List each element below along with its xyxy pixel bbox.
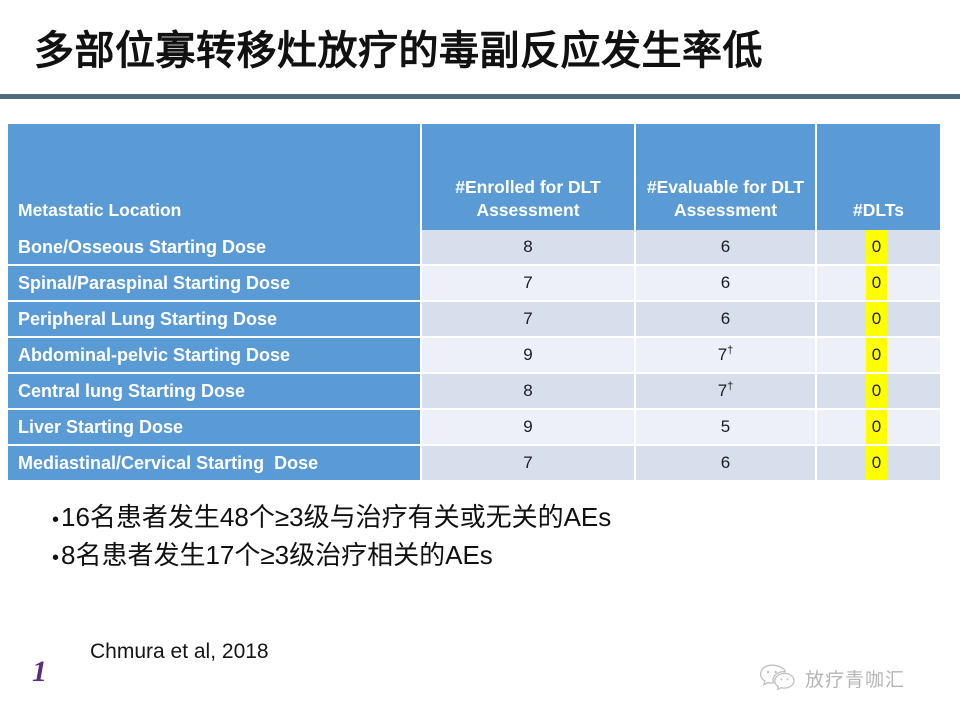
table-row: Bone/Osseous Starting Dose860: [8, 230, 940, 265]
cell-evaluable: 6: [635, 301, 816, 337]
cell-enrolled: 7: [421, 301, 635, 337]
cell-location: Abdominal-pelvic Starting Dose: [8, 337, 421, 373]
watermark: 放疗青咖汇: [758, 662, 905, 695]
cell-location: Mediastinal/Cervical Starting Dose: [8, 445, 421, 480]
cell-dlts-value: 0: [866, 302, 887, 336]
slide-canvas: 多部位寡转移灶放疗的毒副反应发生率低 Metastatic Location #…: [0, 0, 960, 720]
list-item: • 16名患者发生48个≥3级与治疗有关或无关的AEs: [52, 500, 912, 538]
table-row: Mediastinal/Cervical Starting Dose760: [8, 445, 940, 480]
cell-dlts: 0: [816, 230, 940, 265]
page-title: 多部位寡转移灶放疗的毒副反应发生率低: [34, 22, 924, 82]
bullet-text: 16名患者发生48个≥3级与治疗有关或无关的AEs: [61, 500, 611, 535]
cell-evaluable-value: 6: [721, 273, 730, 292]
cell-location: Bone/Osseous Starting Dose: [8, 230, 421, 265]
list-item: • 8名患者发生17个≥3级治疗相关的AEs: [52, 538, 912, 576]
cell-evaluable-value: 6: [721, 237, 730, 256]
page-number: 1: [32, 655, 47, 689]
cell-enrolled: 7: [421, 445, 635, 480]
wechat-bubble-icon: [758, 662, 798, 695]
cell-dlts: 0: [816, 265, 940, 301]
cell-enrolled: 8: [421, 230, 635, 265]
cell-evaluable-value: 6: [721, 453, 730, 472]
column-header-enrolled: #Enrolled for DLT Assessment: [421, 124, 635, 230]
table-body: Bone/Osseous Starting Dose860Spinal/Para…: [8, 230, 940, 480]
cell-enrolled: 7: [421, 265, 635, 301]
cell-dlts-value: 0: [866, 266, 887, 300]
table-row: Spinal/Paraspinal Starting Dose760: [8, 265, 940, 301]
column-header-location: Metastatic Location: [8, 124, 421, 230]
cell-evaluable: 5: [635, 409, 816, 445]
citation-text: Chmura et al, 2018: [90, 640, 269, 664]
bullet-text: 8名患者发生17个≥3级治疗相关的AEs: [61, 538, 493, 573]
cell-dlts: 0: [816, 301, 940, 337]
cell-evaluable-value: 6: [721, 309, 730, 328]
table-row: Liver Starting Dose950: [8, 409, 940, 445]
watermark-text: 放疗青咖汇: [805, 665, 905, 692]
title-divider: [0, 94, 960, 99]
results-table-container: Metastatic Location #Enrolled for DLT As…: [8, 124, 940, 480]
cell-location: Spinal/Paraspinal Starting Dose: [8, 265, 421, 301]
column-header-dlts: #DLTs: [816, 124, 940, 230]
cell-location: Central lung Starting Dose: [8, 373, 421, 409]
cell-evaluable: 7†: [635, 373, 816, 409]
cell-dlts-value: 0: [866, 410, 887, 444]
dlt-results-table: Metastatic Location #Enrolled for DLT As…: [8, 124, 940, 480]
cell-evaluable: 6: [635, 265, 816, 301]
cell-dlts: 0: [816, 445, 940, 480]
cell-evaluable-value: 5: [721, 417, 730, 436]
cell-dlts-value: 0: [866, 374, 887, 408]
table-row: Abdominal-pelvic Starting Dose97†0: [8, 337, 940, 373]
cell-dlts: 0: [816, 409, 940, 445]
bullet-marker-icon: •: [52, 541, 59, 576]
cell-dlts-value: 0: [866, 446, 887, 480]
cell-dlts: 0: [816, 337, 940, 373]
bullet-marker-icon: •: [52, 503, 59, 538]
cell-evaluable: 7†: [635, 337, 816, 373]
dagger-footnote-marker: †: [727, 344, 733, 356]
cell-dlts-value: 0: [866, 230, 887, 264]
cell-evaluable: 6: [635, 230, 816, 265]
cell-location: Peripheral Lung Starting Dose: [8, 301, 421, 337]
cell-enrolled: 9: [421, 337, 635, 373]
table-row: Peripheral Lung Starting Dose760: [8, 301, 940, 337]
cell-enrolled: 9: [421, 409, 635, 445]
cell-enrolled: 8: [421, 373, 635, 409]
summary-bullet-list: • 16名患者发生48个≥3级与治疗有关或无关的AEs • 8名患者发生17个≥…: [52, 500, 912, 576]
cell-evaluable-value: 7: [718, 381, 727, 400]
dagger-footnote-marker: †: [727, 380, 733, 392]
cell-dlts-value: 0: [866, 338, 887, 372]
cell-evaluable: 6: [635, 445, 816, 480]
cell-dlts: 0: [816, 373, 940, 409]
cell-evaluable-value: 7: [718, 345, 727, 364]
column-header-evaluable: #Evaluable for DLT Assessment: [635, 124, 816, 230]
table-header: Metastatic Location #Enrolled for DLT As…: [8, 124, 940, 230]
cell-location: Liver Starting Dose: [8, 409, 421, 445]
table-row: Central lung Starting Dose87†0: [8, 373, 940, 409]
table-header-row: Metastatic Location #Enrolled for DLT As…: [8, 124, 940, 230]
